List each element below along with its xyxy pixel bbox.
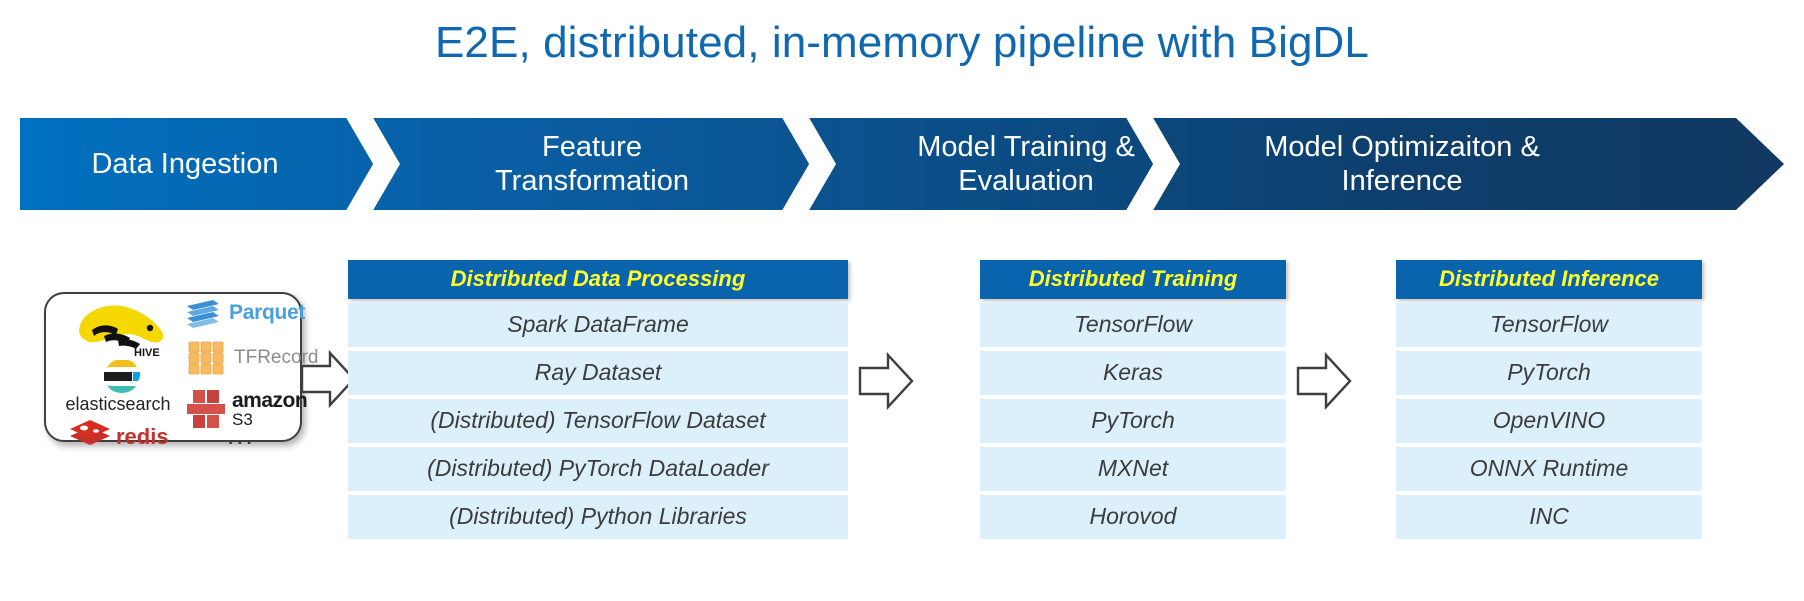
table-row: (Distributed) TensorFlow Dataset bbox=[348, 399, 848, 443]
table-header: Distributed Training bbox=[980, 260, 1286, 299]
table-row: Spark DataFrame bbox=[348, 303, 848, 347]
table-row: Keras bbox=[980, 351, 1286, 395]
elasticsearch-label: elasticsearch bbox=[50, 394, 186, 415]
svg-text:HIVE: HIVE bbox=[134, 347, 160, 358]
table-row: TensorFlow bbox=[1396, 303, 1702, 347]
hive-logo-icon: HIVE bbox=[74, 300, 170, 358]
table-row: ONNX Runtime bbox=[1396, 447, 1702, 491]
table-header: Distributed Inference bbox=[1396, 260, 1702, 299]
data-sources-column-left: HIVE elasticsearch redis bbox=[46, 294, 173, 440]
data-sources-box: HIVE elasticsearch redis bbox=[44, 292, 302, 442]
table-header: Distributed Data Processing bbox=[348, 260, 848, 299]
tfrecord-entry: TFRecord bbox=[185, 336, 318, 380]
table-row: TensorFlow bbox=[980, 303, 1286, 347]
table-distributed-training: Distributed Training TensorFlow Keras Py… bbox=[980, 260, 1286, 539]
table-row: PyTorch bbox=[1396, 351, 1702, 395]
parquet-entry: Parquet bbox=[183, 298, 305, 328]
flow-arrow-3 bbox=[1296, 350, 1352, 412]
table-row: Ray Dataset bbox=[348, 351, 848, 395]
pipeline-banner: Data Ingestion Feature Transformation Mo… bbox=[20, 118, 1784, 210]
sources-ellipsis: ... bbox=[227, 420, 255, 451]
table-distributed-inference: Distributed Inference TensorFlow PyTorch… bbox=[1396, 260, 1702, 539]
table-row: INC bbox=[1396, 495, 1702, 539]
elasticsearch-logo-icon bbox=[102, 360, 142, 394]
amazon-label: amazon bbox=[232, 390, 307, 411]
table-row: MXNet bbox=[980, 447, 1286, 491]
diagram-canvas: E2E, distributed, in-memory pipeline wit… bbox=[0, 0, 1804, 601]
banner-background bbox=[20, 118, 1784, 210]
page-title: E2E, distributed, in-memory pipeline wit… bbox=[0, 18, 1804, 68]
flow-arrow-2 bbox=[858, 350, 914, 412]
table-row: (Distributed) Python Libraries bbox=[348, 495, 848, 539]
table-distributed-data-processing: Distributed Data Processing Spark DataFr… bbox=[348, 260, 848, 539]
amazon-s3-logo-icon bbox=[185, 386, 227, 432]
data-sources-column-right: Parquet TFRecord bbox=[173, 294, 300, 440]
svg-text:redis: redis bbox=[116, 424, 169, 449]
table-row: Horovod bbox=[980, 495, 1286, 539]
parquet-logo-icon bbox=[183, 298, 223, 328]
table-row: PyTorch bbox=[980, 399, 1286, 443]
table-row: OpenVINO bbox=[1396, 399, 1702, 443]
table-row: (Distributed) PyTorch DataLoader bbox=[348, 447, 848, 491]
tfrecord-logo-icon bbox=[185, 336, 229, 380]
parquet-label: Parquet bbox=[229, 301, 305, 325]
redis-logo-icon: redis bbox=[68, 418, 188, 452]
